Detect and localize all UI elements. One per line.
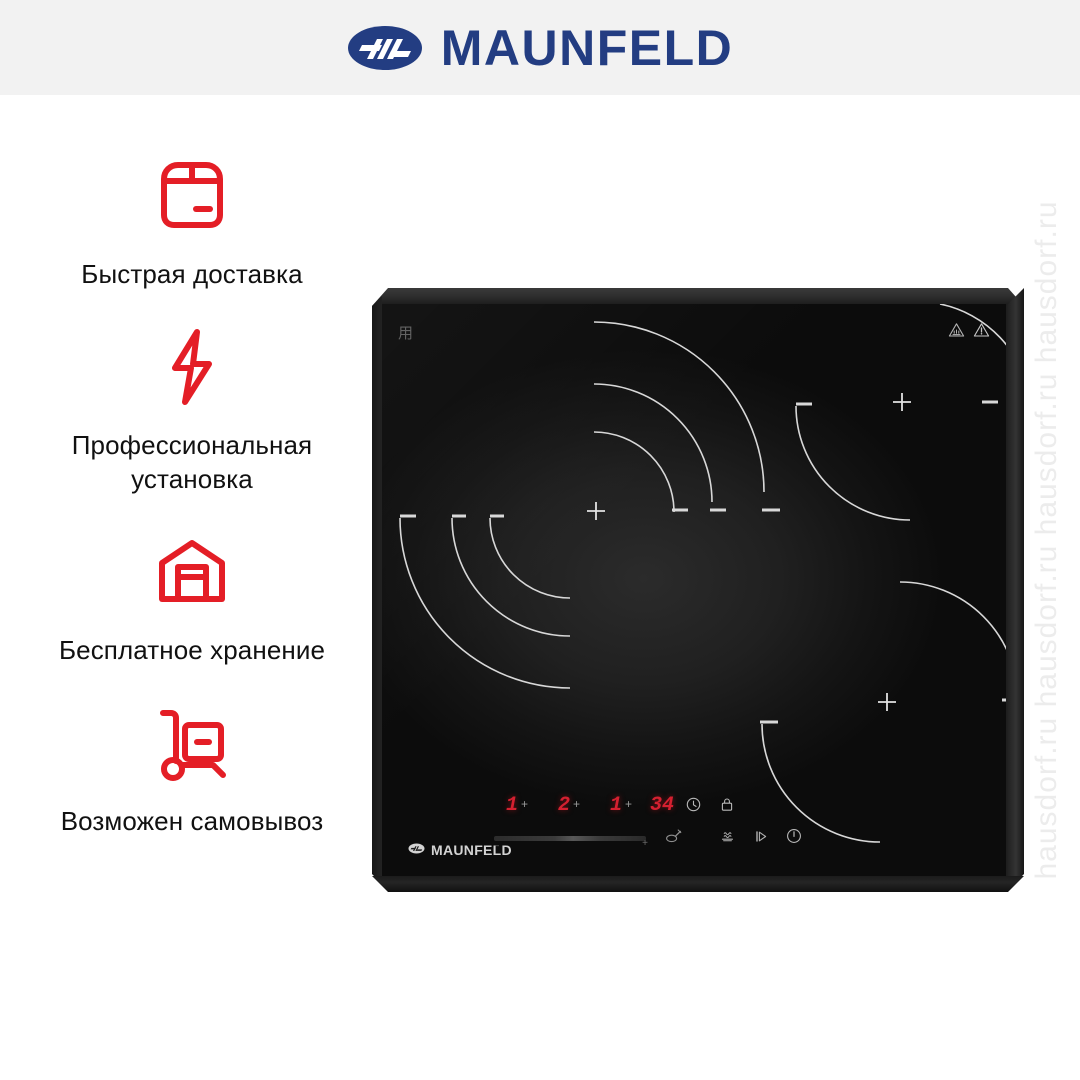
delivery-box-icon	[150, 150, 234, 242]
zone-3-level-display[interactable]: 1 +	[610, 796, 632, 816]
zone-left-arc-mid-upper	[594, 384, 712, 502]
play-pause-icon[interactable]	[754, 829, 768, 849]
brand-name: MAUNFELD	[441, 23, 734, 73]
zone-bottomright-arc-upper	[900, 582, 1006, 700]
zone-1-boost-plus: +	[521, 798, 528, 810]
hob-left-bevel	[372, 288, 382, 892]
feature-label: Быстрая доставка	[81, 258, 302, 291]
lock-icon[interactable]	[720, 797, 734, 817]
warning-general-icon	[973, 322, 990, 343]
timer-value: 34	[650, 796, 674, 816]
zone-left-arc-inner-upper	[594, 432, 674, 512]
zone-left-arc-inner	[490, 518, 570, 598]
zone-2-level-value: 2	[558, 796, 570, 816]
watermark-text: hausdorf.ru hausdorf.ru hausdorf.ru haus…	[1030, 200, 1064, 879]
page-root: MAUNFELD Быстрая доставка Профессиона	[0, 0, 1080, 1080]
hob-spec-mark: ⽤	[398, 326, 413, 341]
warehouse-icon	[150, 526, 234, 618]
warning-hot-surface-icon	[948, 322, 965, 343]
feature-list: Быстрая доставка Профессиональная устано…	[22, 150, 362, 838]
power-icon[interactable]	[786, 828, 802, 849]
induction-cooktop: ⽤	[372, 288, 1024, 892]
zone-bottomright-crosshair	[878, 693, 896, 711]
maunfeld-ellipse-m-icon-small	[408, 841, 425, 859]
hob-brand-logo: MAUNFELD	[408, 841, 512, 859]
brand-lockup: MAUNFELD	[347, 23, 734, 73]
zone-left-arc-mid	[452, 518, 570, 636]
zone-topright-arc-upper	[940, 304, 1006, 400]
pan-icon[interactable]	[665, 828, 682, 850]
feature-item-fast-delivery: Быстрая доставка	[22, 150, 362, 291]
hand-truck-icon	[147, 697, 237, 789]
feature-item-free-storage: Бесплатное хранение	[22, 526, 362, 667]
lightning-bolt-icon	[159, 321, 225, 413]
zone-2-boost-plus: +	[573, 798, 580, 810]
zone-left-crosshair	[587, 502, 605, 520]
zone-topright-arc	[796, 406, 910, 520]
hob-right-bevel	[1006, 288, 1024, 892]
digit-display-row: 1 + 2 + 1 + 34	[382, 796, 1006, 820]
feature-label: Профессиональная установка	[22, 429, 362, 496]
zone-1-level-display[interactable]: 1 +	[506, 796, 528, 816]
hob-brand-name: MAUNFELD	[431, 842, 512, 858]
zone-1-level-value: 1	[506, 796, 518, 816]
warning-icon-group	[948, 322, 990, 343]
zone-3-level-value: 1	[610, 796, 622, 816]
zone-left-arc-outer	[400, 518, 570, 688]
zone-2-level-display[interactable]: 2 +	[558, 796, 580, 816]
zone-left-arc-outer-upper	[594, 322, 764, 492]
hob-bottom-bevel	[372, 876, 1024, 892]
feature-item-professional-install: Профессиональная установка	[22, 321, 362, 496]
maunfeld-ellipse-m-icon	[347, 25, 423, 71]
hob-glass-surface: ⽤	[382, 304, 1006, 876]
feature-label: Возможен самовывоз	[61, 805, 324, 838]
clock-icon[interactable]	[686, 797, 701, 817]
keep-warm-icon[interactable]	[720, 829, 735, 849]
feature-label: Бесплатное хранение	[59, 634, 325, 667]
zone-topright-crosshair	[893, 393, 911, 411]
site-header: MAUNFELD	[0, 0, 1080, 95]
feature-item-self-pickup: Возможен самовывоз	[22, 697, 362, 838]
control-panel: 1 + 2 + 1 + 34	[382, 780, 1006, 876]
zone-3-boost-plus: +	[625, 798, 632, 810]
